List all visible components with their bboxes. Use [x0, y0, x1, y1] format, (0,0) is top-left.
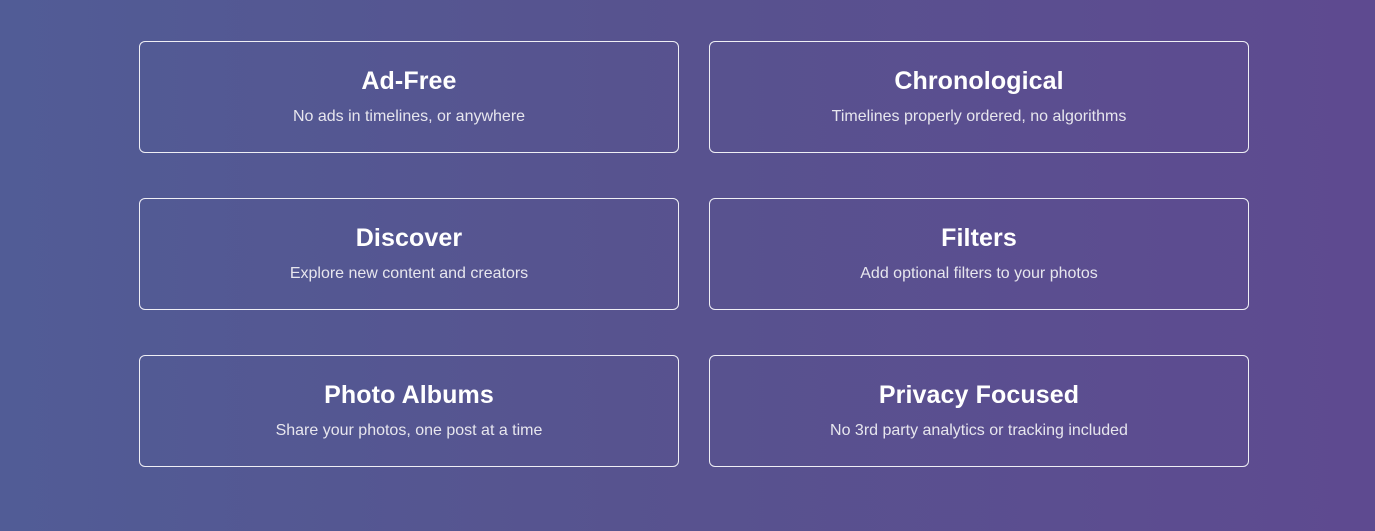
feature-card-title: Photo Albums [324, 382, 494, 410]
feature-card-description: Add optional filters to your photos [860, 264, 1097, 283]
feature-card-chronological[interactable]: Chronological Timelines properly ordered… [709, 41, 1249, 153]
feature-card-title: Privacy Focused [879, 382, 1079, 410]
feature-card-grid: Ad-Free No ads in timelines, or anywhere… [139, 41, 1249, 467]
feature-card-discover[interactable]: Discover Explore new content and creator… [139, 198, 679, 310]
feature-card-title: Ad-Free [361, 68, 456, 96]
feature-card-photo-albums[interactable]: Photo Albums Share your photos, one post… [139, 355, 679, 467]
feature-card-description: Timelines properly ordered, no algorithm… [832, 107, 1127, 126]
feature-card-title: Chronological [894, 68, 1063, 96]
feature-card-filters[interactable]: Filters Add optional filters to your pho… [709, 198, 1249, 310]
feature-card-description: Explore new content and creators [290, 264, 528, 283]
feature-card-description: No 3rd party analytics or tracking inclu… [830, 421, 1128, 440]
feature-card-description: No ads in timelines, or anywhere [293, 107, 525, 126]
feature-highlights-section: Ad-Free No ads in timelines, or anywhere… [0, 0, 1375, 531]
feature-card-description: Share your photos, one post at a time [276, 421, 543, 440]
feature-card-privacy-focused[interactable]: Privacy Focused No 3rd party analytics o… [709, 355, 1249, 467]
feature-card-title: Filters [941, 225, 1017, 253]
feature-card-ad-free[interactable]: Ad-Free No ads in timelines, or anywhere [139, 41, 679, 153]
feature-card-title: Discover [356, 225, 462, 253]
